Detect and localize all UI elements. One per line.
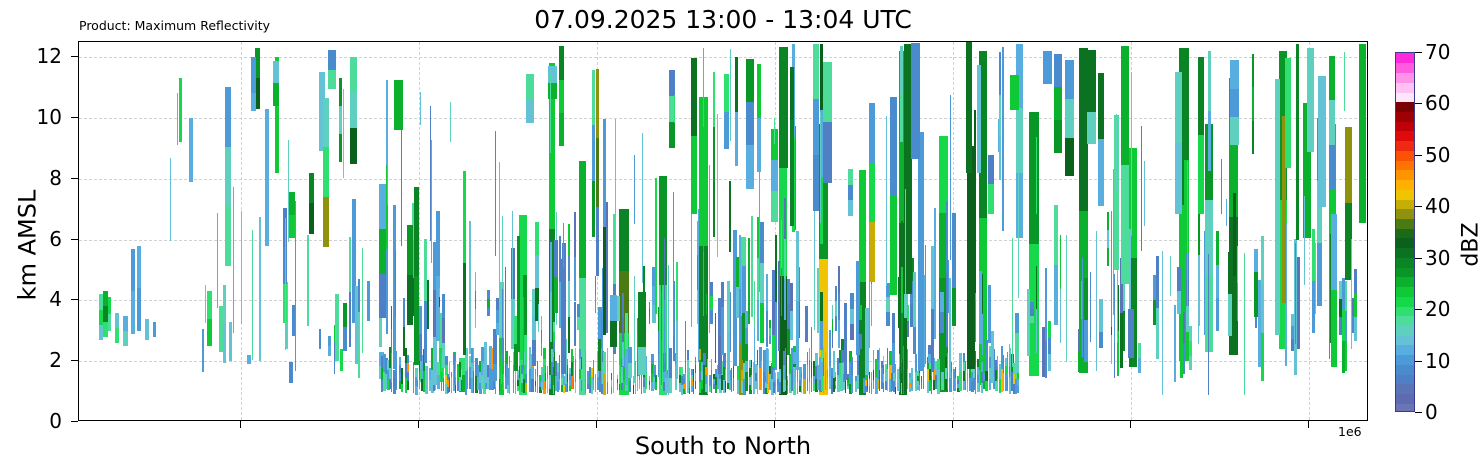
reflectivity-column [420,92,421,125]
reflectivity-cell [742,266,746,313]
reflectivity-cell [607,348,608,359]
reflectivity-cell [779,382,781,395]
reflectivity-cell [658,354,659,377]
reflectivity-cell [391,362,392,372]
y-axis-tick [71,421,78,422]
reflectivity-cell [760,303,764,343]
reflectivity-column [695,357,696,388]
reflectivity-column [538,304,539,332]
reflectivity-cell [901,383,902,393]
reflectivity-cell [401,376,403,384]
reflectivity-cell [769,328,771,336]
reflectivity-column [754,281,755,373]
reflectivity-cell [900,46,903,94]
reflectivity-cell [661,246,662,292]
reflectivity-column [1111,211,1112,327]
reflectivity-column [622,293,624,366]
reflectivity-column [1329,200,1330,359]
reflectivity-cell [1315,278,1316,313]
reflectivity-cell [433,337,437,384]
reflectivity-cell [761,376,762,390]
reflectivity-column [449,362,450,393]
reflectivity-column [879,348,880,391]
reflectivity-cell [869,386,870,393]
reflectivity-cell [809,371,810,382]
reflectivity-cell [706,294,707,315]
reflectivity-cell [977,65,981,172]
reflectivity-column [658,307,659,377]
reflectivity-cell [1128,309,1134,359]
reflectivity-column [425,366,428,394]
reflectivity-cell [820,292,823,321]
reflectivity-column [1244,253,1245,395]
reflectivity-cell [607,371,608,382]
reflectivity-cell [787,389,788,394]
reflectivity-cell [419,371,420,380]
reflectivity-column [655,375,657,390]
reflectivity-column [746,59,754,188]
reflectivity-cell [638,320,646,347]
reflectivity-cell [1175,143,1182,214]
reflectivity-cell [1060,235,1061,289]
reflectivity-cell [339,134,342,162]
reflectivity-column [251,57,256,111]
reflectivity-cell [499,162,500,289]
reflectivity-cell [1183,312,1185,343]
reflectivity-cell [1331,214,1337,291]
reflectivity-cell [832,334,833,348]
reflectivity-cell [343,303,347,327]
reflectivity-column [349,237,351,348]
reflectivity-column [607,348,608,394]
reflectivity-cell [1162,251,1163,394]
reflectivity-cell [1098,139,1104,205]
reflectivity-cell [309,203,314,233]
reflectivity-cell [1017,386,1019,393]
reflectivity-column [801,373,802,393]
y-axis-tick-label: 2 [49,348,62,372]
reflectivity-cell [985,381,988,391]
reflectivity-cell [634,155,635,224]
reflectivity-cell [323,98,329,148]
reflectivity-cell [799,267,800,302]
reflectivity-cell [838,293,840,320]
reflectivity-column [711,359,712,394]
reflectivity-cell [1354,269,1357,293]
reflectivity-cell [1114,274,1115,308]
reflectivity-cell [526,74,534,98]
page-title: 07.09.2025 13:00 - 13:04 UTC [78,5,1368,34]
reflectivity-cell [869,163,875,222]
reflectivity-cell [1114,309,1115,343]
reflectivity-column [761,361,762,390]
reflectivity-cell [179,78,182,142]
reflectivity-cell [725,357,726,369]
reflectivity-cell [585,365,586,379]
colorbar-segment [1396,364,1414,374]
reflectivity-column [774,118,775,144]
reflectivity-cell [288,140,289,243]
reflectivity-cell [334,325,335,341]
reflectivity-column [1003,355,1004,390]
reflectivity-cell [675,378,677,390]
reflectivity-cell [1015,333,1019,353]
colorbar-segment [1396,141,1414,151]
reflectivity-cell [999,137,1001,180]
reflectivity-cell [559,355,560,367]
colorbar-segment [1396,384,1414,394]
reflectivity-cell [998,119,999,152]
reflectivity-column [1228,252,1232,336]
reflectivity-column [1036,266,1037,353]
y-axis-tick-label: 0 [49,409,62,433]
reflectivity-cell [420,92,421,125]
reflectivity-cell [801,388,802,393]
reflectivity-cell [273,61,279,84]
reflectivity-cell [746,145,754,188]
reflectivity-column [873,350,874,389]
reflectivity-column [757,350,758,394]
reflectivity-column [1138,343,1141,372]
reflectivity-cell [949,382,952,392]
reflectivity-cell [766,348,768,385]
reflectivity-column [1237,246,1238,321]
reflectivity-cell [913,327,916,354]
reflectivity-cell [137,288,141,331]
reflectivity-cell [1329,56,1335,101]
reflectivity-column [835,286,837,331]
reflectivity-cell [761,361,762,375]
reflectivity-cell [531,379,534,392]
reflectivity-cell [931,376,932,385]
reflectivity-cell [1054,54,1062,87]
reflectivity-column [309,173,314,234]
reflectivity-cell [473,348,474,370]
reflectivity-cell [825,352,826,371]
reflectivity-cell [607,382,608,393]
colorbar-segment [1396,316,1414,326]
reflectivity-cell [709,165,710,332]
reflectivity-cell [611,373,612,380]
reflectivity-cell [661,292,662,338]
reflectivity-cell [1208,51,1211,111]
reflectivity-cell [593,360,594,370]
reflectivity-cell [501,374,502,384]
reflectivity-cell [475,309,476,328]
reflectivity-cell [1087,112,1096,143]
reflectivity-cell [1345,127,1352,204]
colorbar-tick [1415,412,1422,413]
reflectivity-cell [1261,333,1264,381]
reflectivity-cell [1043,51,1052,85]
reflectivity-cell [509,384,510,394]
reflectivity-cell [273,83,279,106]
reflectivity-cell [883,365,884,374]
reflectivity-cell [979,349,980,370]
reflectivity-cell [567,374,568,383]
reflectivity-column [442,294,445,368]
reflectivity-cell [513,379,514,393]
reflectivity-cell [1170,256,1171,296]
reflectivity-column [573,356,574,389]
reflectivity-column [217,213,218,309]
colorbar-segment [1396,403,1414,412]
reflectivity-cell [790,283,793,311]
reflectivity-cell [487,290,490,299]
reflectivity-cell [757,350,758,365]
reflectivity-cell [461,380,462,391]
reflectivity-cell [1174,305,1176,382]
reflectivity-cell [553,367,554,376]
reflectivity-cell [439,288,440,297]
colorbar-segment [1396,92,1414,102]
reflectivity-cell [907,369,908,379]
reflectivity-cell [601,348,602,384]
reflectivity-cell [669,378,672,393]
reflectivity-cell [605,380,606,395]
reflectivity-cell [437,375,440,388]
reflectivity-cell [205,285,206,298]
reflectivity-column [1113,169,1114,315]
reflectivity-cell [785,348,786,359]
reflectivity-column [1084,278,1088,361]
reflectivity-column [982,274,983,356]
reflectivity-column [691,58,697,214]
reflectivity-cell [407,381,409,390]
reflectivity-cell [1221,159,1222,214]
reflectivity-cell [1060,289,1061,343]
reflectivity-cell [689,374,690,381]
reflectivity-cell [407,372,409,381]
reflectivity-cell [553,385,554,394]
reflectivity-column [760,222,764,343]
reflectivity-column [1012,238,1013,367]
reflectivity-cell [417,373,418,380]
colorbar-segment [1396,179,1414,189]
reflectivity-cell [751,382,752,389]
reflectivity-cell [637,380,638,391]
reflectivity-column [825,352,826,390]
reflectivity-cell [1121,165,1129,284]
reflectivity-column [259,217,261,361]
reflectivity-cell [869,103,875,162]
reflectivity-cell [757,365,758,380]
reflectivity-cell [289,362,293,382]
reflectivity-cell [669,348,672,363]
reflectivity-cell [827,369,828,379]
reflectivity-cell [1252,87,1254,120]
reflectivity-column [450,102,451,142]
reflectivity-cell [638,292,646,319]
reflectivity-cell [1121,46,1129,165]
reflectivity-cell [1084,278,1088,320]
reflectivity-cell [975,351,976,365]
reflectivity-cell [867,380,868,389]
reflectivity-cell [940,292,944,313]
reflectivity-column [395,251,396,318]
reflectivity-column [145,319,149,340]
reflectivity-cell [223,324,226,363]
reflectivity-cell [391,329,392,353]
reflectivity-cell [713,72,715,127]
reflectivity-column [1230,60,1239,144]
reflectivity-cell [901,267,903,313]
reflectivity-cell [1141,126,1142,251]
reflectivity-column [975,351,976,394]
y-axis-tick-label: 6 [49,227,62,251]
reflectivity-cell [441,372,442,391]
reflectivity-column [676,262,678,379]
reflectivity-cell [335,294,339,361]
reflectivity-cell [439,307,440,316]
reflectivity-cell [1036,266,1037,310]
reflectivity-column [994,349,995,377]
reflectivity-column [892,313,895,373]
reflectivity-column [535,369,536,392]
reflectivity-cell [593,380,594,390]
reflectivity-column [1297,257,1300,349]
reflectivity-cell [965,371,966,381]
reflectivity-column [715,313,716,362]
reflectivity-cell [541,316,542,329]
reflectivity-column [545,365,546,389]
reflectivity-cell [895,364,896,372]
reflectivity-cell [639,380,640,389]
reflectivity-cell [950,95,951,260]
reflectivity-cell [229,322,232,362]
reflectivity-column [1107,212,1109,265]
colorbar-segment [1396,248,1414,258]
reflectivity-cell [848,200,853,216]
reflectivity-column [703,48,704,127]
reflectivity-cell [814,206,815,268]
reflectivity-cell [328,336,331,346]
reflectivity-column [1304,196,1305,286]
colorbar-segment [1396,306,1414,316]
reflectivity-cell [602,268,603,353]
reflectivity-cell [1030,302,1034,309]
reflectivity-cell [414,276,419,365]
reflectivity-cell [947,371,948,389]
reflectivity-column [918,132,924,372]
reflectivity-column [553,357,554,394]
reflectivity-column [115,313,119,343]
reflectivity-cell [713,182,715,237]
reflectivity-cell [575,370,576,381]
y-axis-tick [71,360,78,361]
reflectivity-column [525,365,527,392]
reflectivity-cell [845,381,846,393]
reflectivity-cell [1078,329,1080,350]
reflectivity-cell [358,279,360,312]
reflectivity-column [1208,51,1211,171]
reflectivity-cell [695,357,696,365]
reflectivity-cell [431,140,432,263]
reflectivity-column [523,297,524,370]
reflectivity-column [832,305,833,348]
reflectivity-column [1221,159,1222,214]
reflectivity-cell [1007,352,1008,365]
reflectivity-column [611,373,612,394]
reflectivity-column [759,157,760,291]
reflectivity-column [1175,72,1182,214]
reflectivity-cell [857,362,859,376]
reflectivity-cell [538,304,539,332]
reflectivity-cell [887,348,888,369]
reflectivity-cell [387,100,388,205]
reflectivity-cell [775,235,777,303]
reflectivity-cell [1111,350,1112,364]
reflectivity-column [439,288,440,316]
reflectivity-cell [543,348,546,360]
reflectivity-cell [903,370,904,394]
colorbar-segment [1396,355,1414,365]
reflectivity-cell [467,348,468,369]
reflectivity-column [757,64,761,172]
reflectivity-cell [809,360,810,371]
reflectivity-cell [781,220,782,268]
reflectivity-cell [1087,81,1096,112]
reflectivity-column [903,346,904,394]
reflectivity-column [1226,199,1227,226]
reflectivity-column [437,362,440,389]
reflectivity-cell [1359,44,1366,224]
reflectivity-cell [1345,281,1347,311]
reflectivity-column [473,348,474,393]
reflectivity-cell [473,371,474,393]
reflectivity-column [537,361,538,393]
colorbar-segment [1396,82,1414,92]
reflectivity-column [769,320,771,345]
reflectivity-column [592,70,595,237]
reflectivity-column [574,212,576,347]
reflectivity-cell [669,363,672,378]
reflectivity-column [615,119,616,265]
reflectivity-cell [851,357,853,375]
reflectivity-cell [343,89,344,178]
reflectivity-cell [537,377,538,393]
reflectivity-cell [445,356,448,366]
reflectivity-cell [754,281,755,327]
reflectivity-cell [769,320,771,328]
reflectivity-cell [499,355,500,367]
reflectivity-column [731,368,732,392]
reflectivity-column [673,192,674,336]
reflectivity-column [1043,51,1052,85]
reflectivity-column [547,366,548,392]
reflectivity-cell [737,380,739,394]
reflectivity-cell [554,277,558,314]
reflectivity-cell [247,355,251,364]
reflectivity-cell [1230,89,1239,117]
reflectivity-cell [965,361,966,371]
reflectivity-cell [391,372,392,382]
reflectivity-column [343,303,347,352]
reflectivity-data [79,42,1367,420]
radar-curtain-figure: 07.09.2025 13:00 - 13:04 UTC Product: Ma… [0,0,1482,470]
reflectivity-column [838,266,840,348]
reflectivity-cell [952,251,956,288]
reflectivity-cell [613,354,614,374]
reflectivity-cell [703,353,706,365]
reflectivity-column [948,260,949,313]
reflectivity-cell [1036,137,1037,214]
reflectivity-cell [554,240,558,277]
reflectivity-column [809,348,810,393]
reflectivity-cell [937,359,940,371]
reflectivity-cell [859,170,866,282]
reflectivity-cell [1345,341,1347,371]
